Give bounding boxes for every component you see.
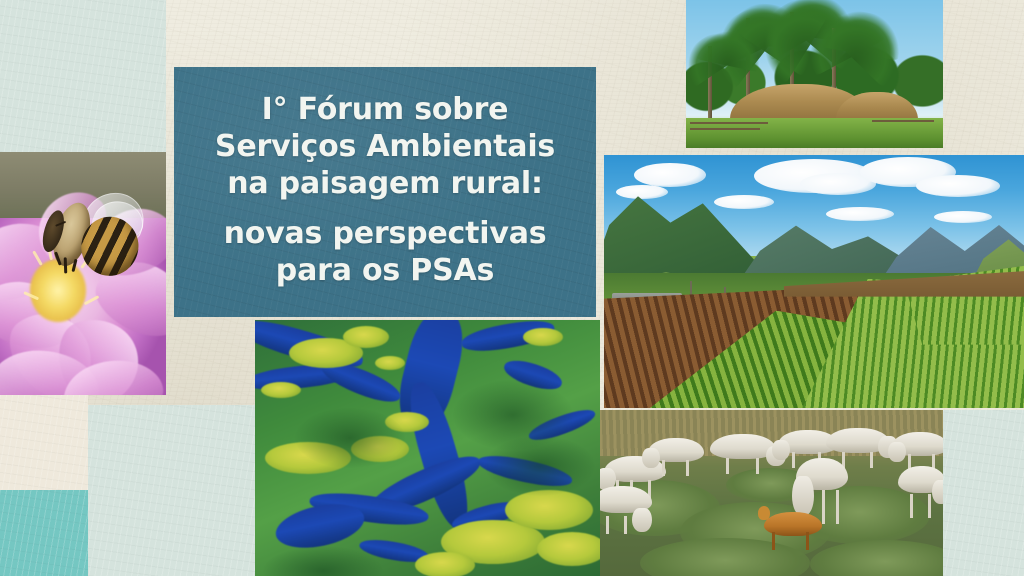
deer-leg [772, 532, 775, 550]
mint-block-bottom-left [88, 405, 255, 576]
deer-head [758, 506, 770, 520]
bee-on-flower-photo [0, 152, 166, 395]
deer-leg-2 [806, 532, 809, 550]
mint-block-top-left [0, 0, 166, 152]
title-line-1: I° Fórum sobre [174, 91, 596, 128]
palm-village-photo [686, 0, 943, 148]
crop-fields [604, 287, 1024, 408]
turquoise-block-bottom-left [0, 490, 88, 576]
title-line-2: Serviços Ambientais [174, 128, 596, 165]
wetland-aerial-photo [255, 320, 600, 576]
event-poster: I° Fórum sobre Serviços Ambientais na pa… [0, 0, 1024, 576]
mint-block-bottom-right [943, 410, 1024, 576]
title-line-4: novas perspectivas [174, 215, 596, 252]
title-text-block: I° Fórum sobre Serviços Ambientais na pa… [174, 91, 596, 293]
title-line-5: para os PSAs [174, 252, 596, 289]
title-line-3: na paisagem rural: [174, 165, 596, 202]
cattle-pasture-photo [600, 410, 943, 576]
valley-farmland-photo [604, 155, 1024, 408]
cream-block-mid-left [0, 395, 88, 491]
title-panel: I° Fórum sobre Serviços Ambientais na pa… [174, 67, 596, 317]
